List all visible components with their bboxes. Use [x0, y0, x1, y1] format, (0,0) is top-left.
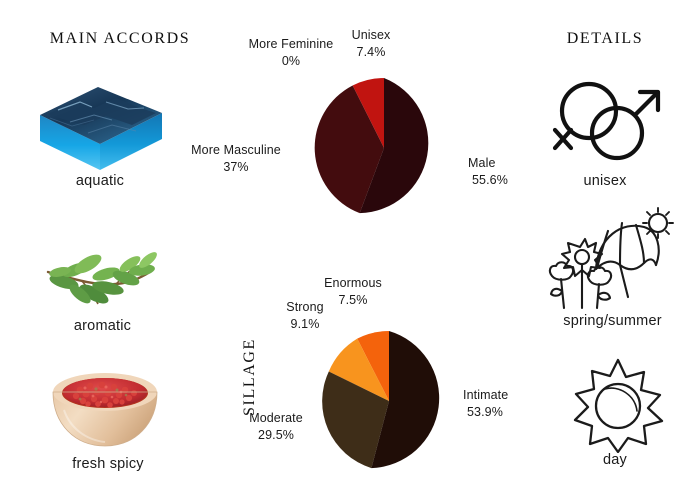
gender-pie-chart: [313, 77, 455, 224]
water-cube-icon: [36, 82, 166, 174]
peppercorn-bowl-icon: [50, 366, 160, 450]
accord-label-aromatic: aromatic: [20, 318, 185, 334]
gender-pie-svg: [313, 77, 455, 219]
sillage-pie-chart: [318, 330, 460, 477]
detail-icon-spring-summer: [540, 205, 690, 315]
accord-icon-aquatic: [36, 82, 166, 174]
sillage-label-moderate: Moderate 29.5%: [228, 410, 324, 444]
sillage-label-strong: Strong 9.1%: [272, 299, 338, 333]
fragrance-profile-infographic: MAIN ACCORDS: [0, 0, 700, 500]
unisex-gender-symbol-icon: [547, 73, 665, 169]
details-title: DETAILS: [520, 30, 690, 48]
sillage-pie-svg: [318, 330, 460, 472]
flowers-parasol-sun-icon: [540, 205, 690, 315]
sun-icon: [569, 355, 667, 453]
sillage-label-intimate: Intimate 53.9%: [463, 387, 549, 421]
detail-label-spring-summer: spring/summer: [525, 313, 700, 329]
herb-sprig-icon: [42, 250, 167, 322]
accord-icon-aromatic: [42, 250, 167, 322]
gender-label-more-feminine: More Feminine 0%: [237, 36, 345, 70]
gender-label-more-masculine: More Masculine 37%: [181, 142, 291, 176]
detail-icon-unisex: [547, 73, 665, 169]
detail-label-unisex: unisex: [525, 173, 685, 189]
detail-icon-day: [569, 355, 667, 453]
detail-label-day: day: [545, 452, 685, 468]
accord-icon-fresh-spicy: [50, 366, 160, 450]
accord-label-aquatic: aquatic: [20, 173, 180, 189]
main-accords-title: MAIN ACCORDS: [20, 30, 220, 48]
accord-label-fresh-spicy: fresh spicy: [18, 456, 198, 472]
gender-label-unisex: Unisex 7.4%: [335, 27, 407, 61]
